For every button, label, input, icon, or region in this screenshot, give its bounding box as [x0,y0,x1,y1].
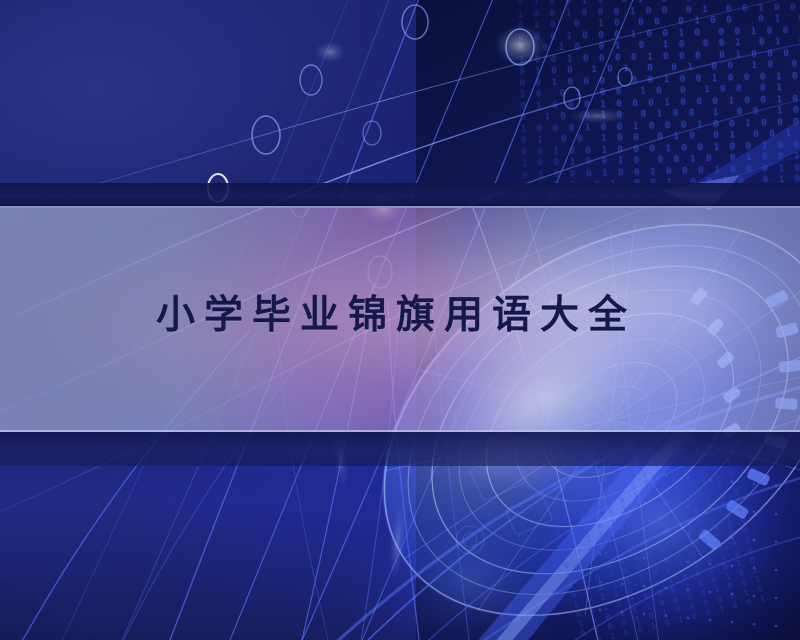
banner-image: 0 1 0 0 1 0 0 1 0 0 1 0 0 0 0 1 0 1 0 1 … [0,0,800,640]
page-title: 小学毕业锦旗用语大全 [156,291,636,341]
band-top-strip [0,183,800,208]
band-bottom-strip [0,432,800,466]
